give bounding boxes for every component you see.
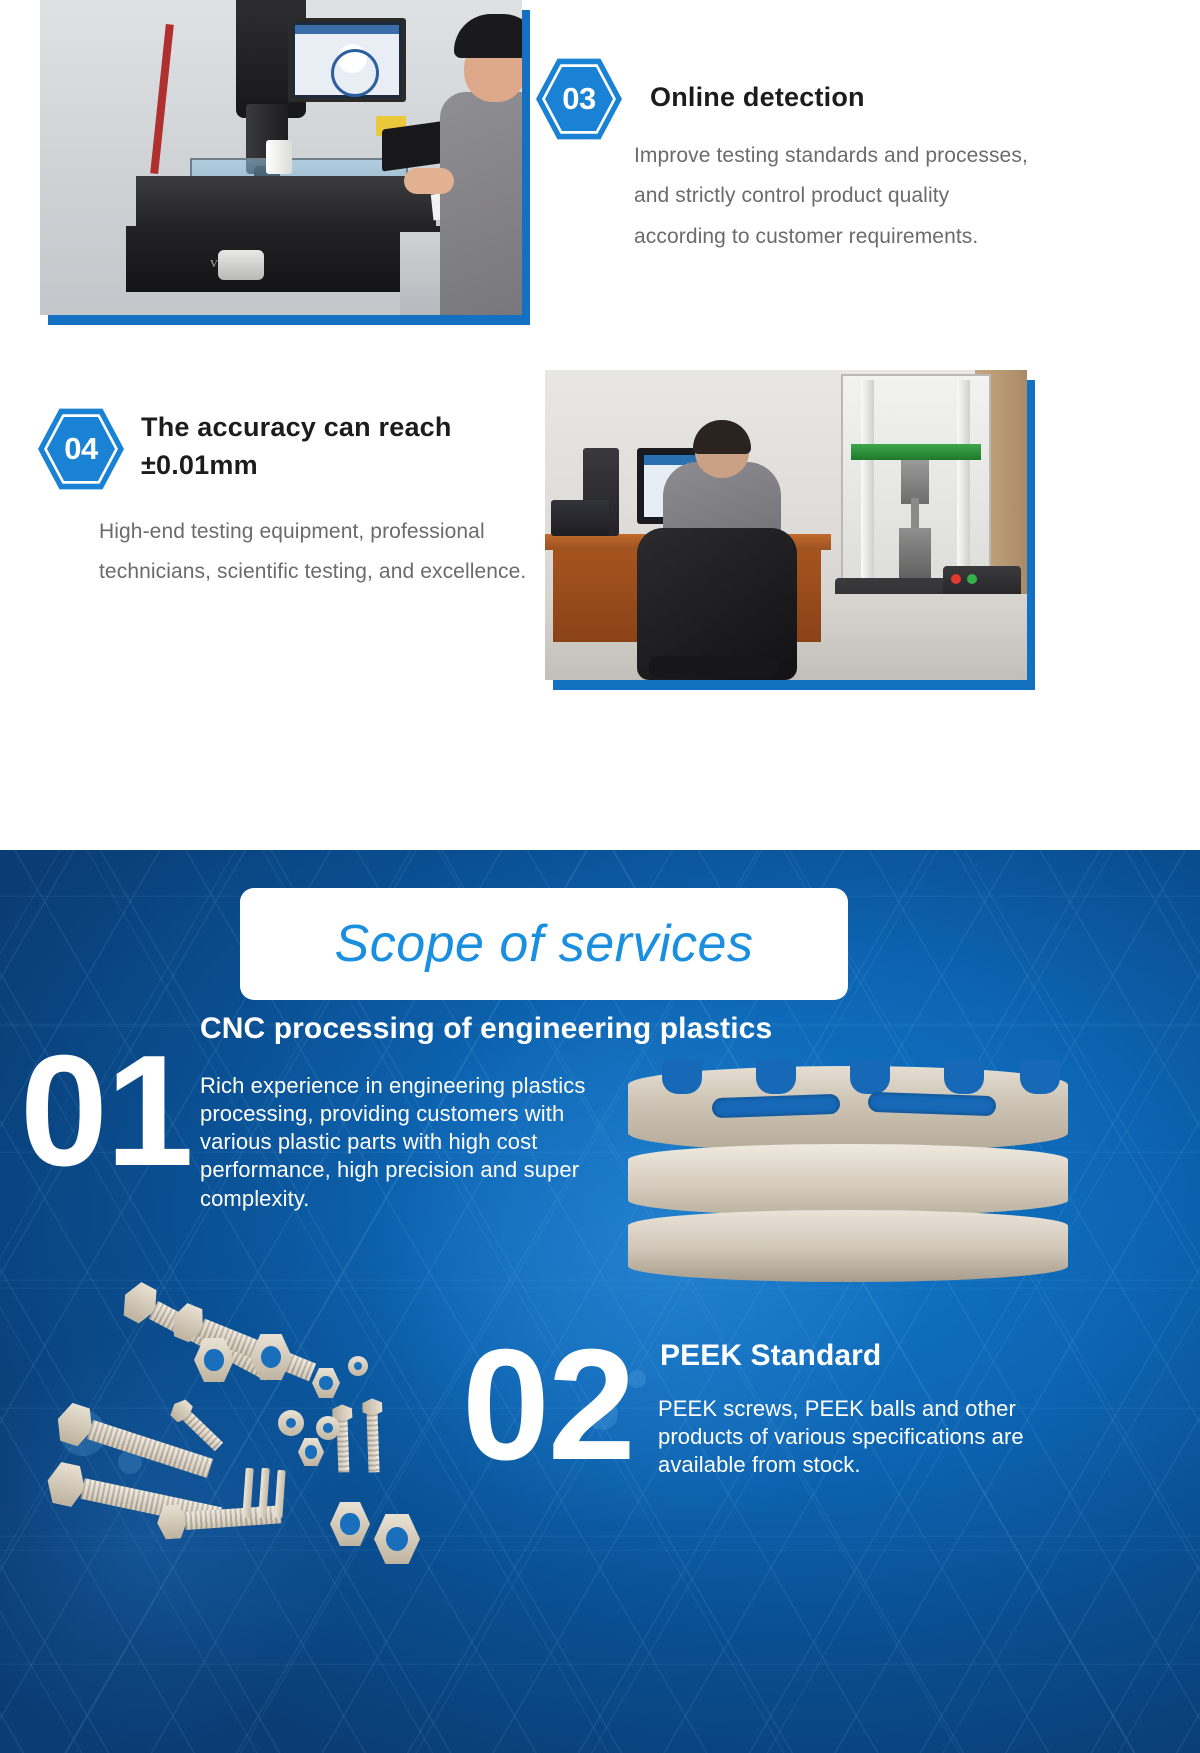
feature-badge-03: 03 [536,56,622,142]
service-body-02: PEEK screws, PEEK balls and other produc… [658,1395,1060,1479]
photo-online-detection: VML300 [40,0,522,315]
feature-number-04: 04 [38,406,124,492]
service-title-02: PEEK Standard [660,1339,1080,1373]
scene-metrology-lab: VML300 [40,0,522,315]
feature-title-04: The accuracy can reach ±0.01mm [141,408,541,485]
product-image-peek-chain-plates [628,1060,1068,1292]
feature-photo-online-detection: VML300 [40,0,530,325]
service-number-01: 01 [20,1032,192,1190]
scope-banner-title: Scope of services [335,914,754,974]
scene-testing-room [545,370,1027,680]
feature-badge-04: 04 [38,406,124,492]
features-section: VML300 03 Online detection Improve testi… [0,0,1200,850]
service-body-01: Rich experience in engineering plastics … [200,1072,600,1213]
feature-photo-accuracy [545,370,1035,690]
photo-tensile-testing [545,370,1027,680]
scope-banner: Scope of services [240,888,848,1000]
feature-body-04: High-end testing equipment, professional… [99,512,539,593]
feature-body-03: Improve testing standards and processes,… [634,136,1034,257]
feature-number-03: 03 [536,56,622,142]
feature-title-03: Online detection [650,78,1070,116]
service-number-02: 02 [462,1326,634,1484]
service-title-01: CNC processing of engineering plastics [200,1012,960,1046]
product-image-peek-fasteners [30,1270,450,1570]
